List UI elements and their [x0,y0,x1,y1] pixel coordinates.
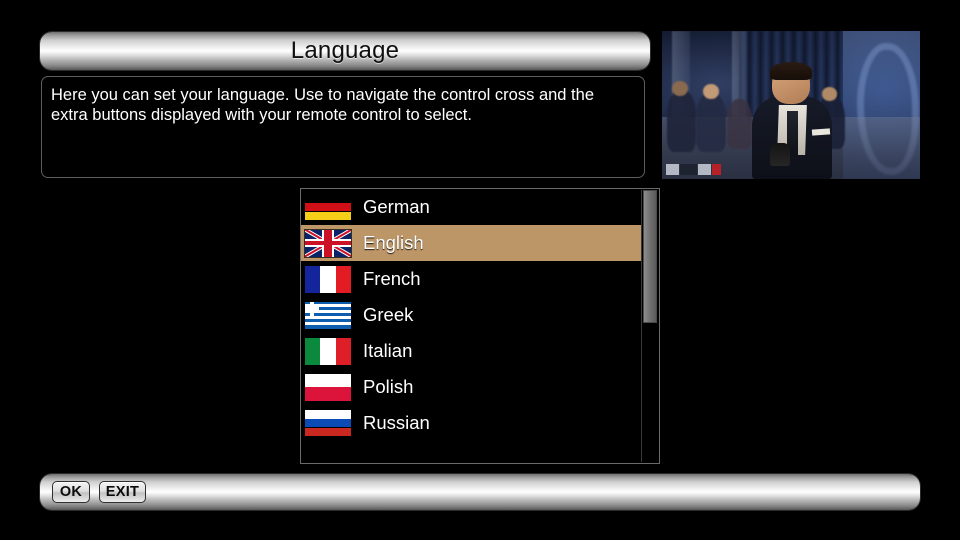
list-item-label: Russian [363,412,430,434]
italy-flag-icon [305,338,351,365]
video-crowd-head [703,84,718,99]
bug-segment [666,164,679,175]
list-item-label: Polish [363,376,413,398]
page-title: Language [40,32,650,70]
france-flag-icon [305,266,351,293]
germany-flag-icon [305,194,351,221]
language-list-panel[interactable]: German English French [300,188,660,464]
list-item-english[interactable]: English [301,225,641,261]
list-item-german[interactable]: German [301,189,641,225]
list-item-french[interactable]: French [301,261,641,297]
united-kingdom-flag-icon [305,230,351,257]
video-preview[interactable] [662,31,920,179]
tv-menu-screen: Language Here you can set your language.… [0,0,960,540]
list-item-label: German [363,196,430,218]
exit-button[interactable]: EXIT [99,481,146,503]
list-item-russian[interactable]: Russian [301,405,641,441]
footer-bar [40,474,920,510]
scrollbar-thumb[interactable] [643,190,657,323]
video-crowd-head [822,87,837,100]
list-item-label: Greek [363,304,413,326]
video-reporter-hair [770,62,812,80]
russia-flag-icon [305,410,351,437]
video-crowd [667,90,695,152]
bug-segment [698,164,711,175]
bug-segment [712,164,721,175]
greece-flag-icon [305,302,351,329]
list-item-label: Italian [363,340,412,362]
video-crowd [727,99,753,149]
video-crowd-head [672,81,687,96]
bug-segment [680,164,697,175]
poland-flag-icon [305,374,351,401]
list-item-greek[interactable]: Greek [301,297,641,333]
list-item-label: French [363,268,421,290]
video-crowd [696,93,727,152]
list-item-polish[interactable]: Polish [301,369,641,405]
list-scrollbar[interactable] [641,190,658,462]
language-list: German English French [301,189,641,441]
channel-logo-bug [666,164,721,175]
title-bar: Language [40,32,650,70]
list-item-italian[interactable]: Italian [301,333,641,369]
description-panel: Here you can set your language. Use to n… [41,76,645,178]
list-item-label: English [363,232,424,254]
ok-button[interactable]: OK [52,481,90,503]
video-reporter-pocket-square [811,128,829,135]
video-microphone [770,143,789,165]
description-text: Here you can set your language. Use to n… [51,85,632,125]
